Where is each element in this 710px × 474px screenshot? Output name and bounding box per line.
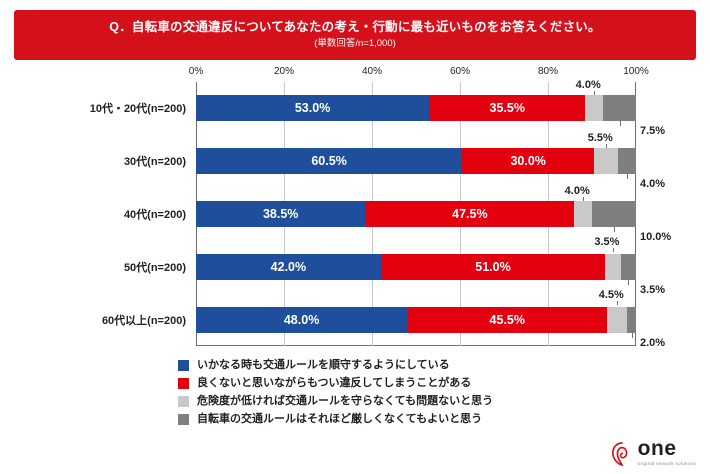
- legend-swatch: [178, 360, 189, 371]
- callout-leader: [620, 121, 621, 126]
- bar-segment: [621, 254, 636, 280]
- bar-value-label: 48.0%: [284, 313, 319, 327]
- bar-segment: 53.0%: [196, 95, 429, 121]
- callout-leader: [628, 280, 629, 285]
- chart-row: 60代以上(n=200)48.0%45.5%4.5%2.0%: [196, 307, 636, 333]
- bar-segment: [618, 148, 636, 174]
- bar-value-label: 35.5%: [490, 101, 525, 115]
- bar-value-label: 60.5%: [311, 154, 346, 168]
- x-tick-label: 80%: [538, 66, 558, 77]
- x-tick-label: 40%: [362, 66, 382, 77]
- bar-value-label: 51.0%: [475, 260, 510, 274]
- chart-page: Q．自転車の交通違反についてあなたの考え・行動に最も近いものをお答えください。 …: [0, 0, 710, 474]
- legend-item: 危険度が低ければ交通ルールを守らなくても問題ないと思う: [178, 396, 648, 407]
- legend-label: 危険度が低ければ交通ルールを守らなくても問題ないと思う: [197, 396, 493, 407]
- bar-value-callout: 4.0%: [640, 178, 665, 190]
- legend-item: いかなる時も交通ルールを順守するようにしている: [178, 360, 648, 371]
- bar-value-callout: 3.5%: [594, 236, 619, 248]
- question-text: Q．自転車の交通違反についてあなたの考え・行動に最も近いものをお答えください。: [109, 21, 600, 35]
- bar-segment: 60.5%: [196, 148, 462, 174]
- x-tick-label: 60%: [450, 66, 470, 77]
- bar-value-label: 30.0%: [510, 154, 545, 168]
- bar-value-label: 53.0%: [295, 101, 330, 115]
- legend-label: 自転車の交通ルールはそれほど厳しくなくてもよいと思う: [197, 414, 482, 425]
- x-tick-label: 20%: [274, 66, 294, 77]
- category-label: 10代・20代(n=200): [90, 95, 186, 121]
- legend-item: 自転車の交通ルールはそれほど厳しくなくてもよいと思う: [178, 414, 648, 425]
- bar-segment: 48.0%: [196, 307, 407, 333]
- legend-item: 良くないと思いながらもつい違反してしまうことがある: [178, 378, 648, 389]
- x-tick-label: 0%: [189, 66, 203, 77]
- logo-wordmark: one: [638, 440, 677, 459]
- bar-segment: 30.0%: [462, 148, 594, 174]
- logo-mark-icon: [611, 442, 633, 466]
- bar-segment: [627, 307, 636, 333]
- bar-segment: 45.5%: [407, 307, 607, 333]
- bar-value-callout: 4.0%: [565, 185, 590, 197]
- bar-segment: 42.0%: [196, 254, 381, 280]
- bar-segment: 38.5%: [196, 201, 365, 227]
- axis-line-bottom: [196, 345, 636, 346]
- x-tick-label: 100%: [623, 66, 649, 77]
- category-label: 40代(n=200): [124, 201, 186, 227]
- category-label: 50代(n=200): [124, 254, 186, 280]
- legend-swatch: [178, 378, 189, 389]
- bar-value-callout: 5.5%: [588, 132, 613, 144]
- legend-label: 良くないと思いながらもつい違反してしまうことがある: [197, 378, 471, 389]
- brand-logo: one original network solutions: [611, 440, 696, 466]
- question-banner: Q．自転車の交通違反についてあなたの考え・行動に最も近いものをお答えください。 …: [14, 10, 696, 60]
- bar-segment: [594, 148, 618, 174]
- legend-swatch: [178, 396, 189, 407]
- category-label: 60代以上(n=200): [102, 307, 186, 333]
- legend-label: いかなる時も交通ルールを順守するようにしている: [197, 360, 450, 371]
- bar-segment: [574, 201, 592, 227]
- bar-value-label: 45.5%: [490, 313, 525, 327]
- bar-segment: [585, 95, 603, 121]
- chart-row: 30代(n=200)60.5%30.0%5.5%4.0%: [196, 148, 636, 174]
- bar-value-callout: 3.5%: [640, 284, 665, 296]
- legend-swatch: [178, 414, 189, 425]
- logo-tagline: original network solutions: [638, 461, 696, 466]
- bar-segment: [603, 95, 636, 121]
- bar-value-label: 47.5%: [452, 207, 487, 221]
- chart-row: 50代(n=200)42.0%51.0%3.5%3.5%: [196, 254, 636, 280]
- bar-value-callout: 7.5%: [640, 125, 665, 137]
- question-subtitle: (単数回答/n=1,000): [314, 39, 396, 49]
- x-axis-ticks: 0%20%40%60%80%100%: [196, 66, 636, 80]
- callout-leader: [613, 248, 614, 252]
- bar-segment: [592, 201, 636, 227]
- bar-value-callout: 4.0%: [576, 79, 601, 91]
- bar-segment: 51.0%: [381, 254, 605, 280]
- bar-value-label: 42.0%: [271, 260, 306, 274]
- bar-value-callout: 4.5%: [599, 289, 624, 301]
- bar-segment: 35.5%: [429, 95, 585, 121]
- bar-value-callout: 10.0%: [640, 231, 671, 243]
- plot-area: 10代・20代(n=200)53.0%35.5%4.0%7.5%30代(n=20…: [196, 82, 636, 346]
- chart-row: 10代・20代(n=200)53.0%35.5%4.0%7.5%: [196, 95, 636, 121]
- callout-leader: [617, 301, 618, 305]
- bar-value-label: 38.5%: [263, 207, 298, 221]
- callout-leader: [627, 174, 628, 179]
- callout-leader: [614, 227, 615, 232]
- callout-leader: [632, 333, 633, 338]
- legend: いかなる時も交通ルールを順守するようにしている良くないと思いながらもつい違反して…: [178, 360, 648, 432]
- category-label: 30代(n=200): [124, 148, 186, 174]
- bar-segment: 47.5%: [365, 201, 574, 227]
- bar-value-callout: 2.0%: [640, 337, 665, 349]
- bar-segment: [607, 307, 627, 333]
- bar-segment: [605, 254, 620, 280]
- chart-row: 40代(n=200)38.5%47.5%4.0%10.0%: [196, 201, 636, 227]
